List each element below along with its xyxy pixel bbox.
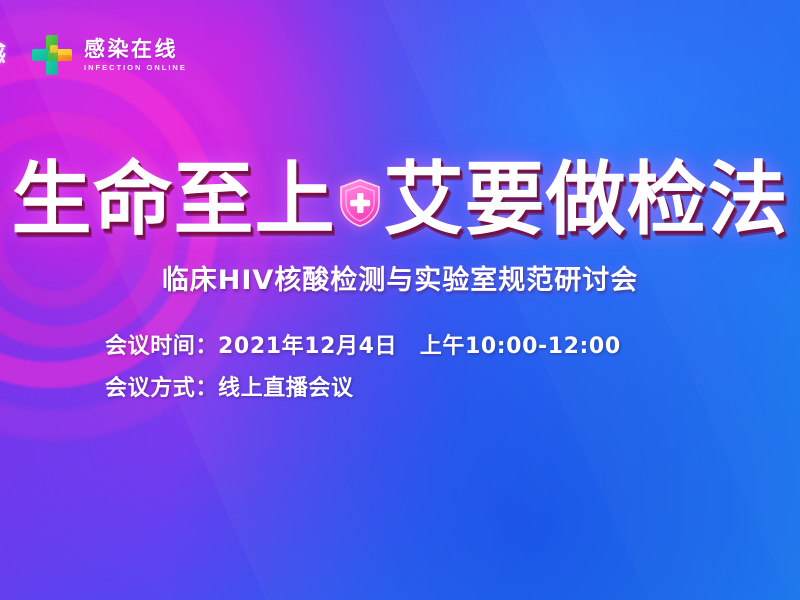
shield-cross-icon (339, 179, 381, 227)
meeting-time-line: 会议时间：2021年12月4日 上午10:00-12:00 (105, 328, 621, 360)
brand-name-en: INFECTION ONLINE (84, 63, 187, 72)
meeting-info-block: 会议时间：2021年12月4日 上午10:00-12:00 会议方式：线上直播会… (105, 328, 621, 402)
clipped-partner-glyph: 感 (0, 37, 6, 69)
main-title: 生命至上 艾要做检法 (0, 152, 800, 248)
poster-canvas: 感 (0, 0, 800, 600)
clipped-partner-logo: 感 (0, 33, 18, 77)
multicolor-cross-icon (30, 33, 74, 77)
brand-logo: 感 (0, 28, 187, 82)
main-title-left: 生命至上 (12, 160, 336, 240)
subtitle: 临床HIV核酸检测与实验室规范研讨会 (0, 258, 800, 297)
main-title-right: 艾要做检法 (384, 160, 789, 240)
meeting-format-line: 会议方式：线上直播会议 (105, 370, 621, 402)
brand-name-cn: 感染在线 (84, 38, 187, 60)
brand-text: 感染在线 INFECTION ONLINE (84, 38, 187, 72)
